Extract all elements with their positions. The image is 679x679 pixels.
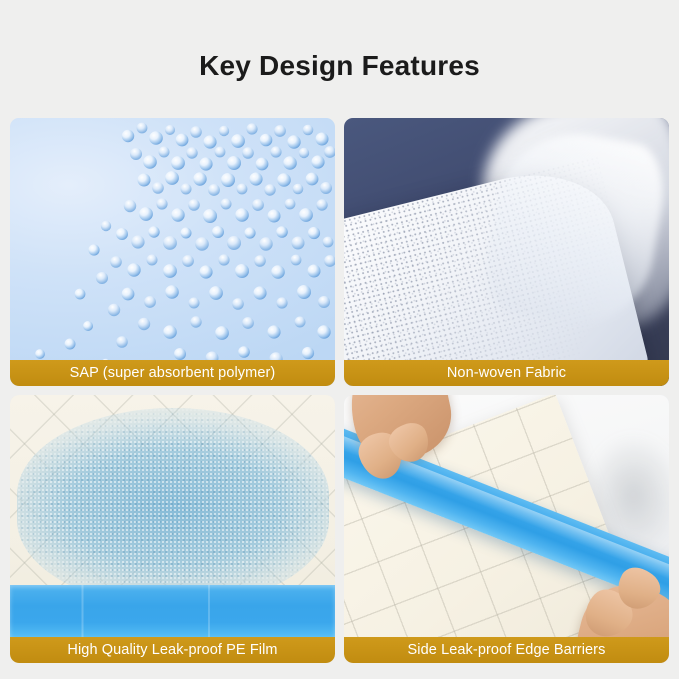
feature-card-edge-barriers[interactable]: Side Leak-proof Edge Barriers — [344, 395, 669, 663]
edge-barriers-photo — [344, 395, 669, 663]
pe-film-photo — [10, 395, 335, 663]
feature-card-pe-film[interactable]: High Quality Leak-proof PE Film — [10, 395, 335, 663]
feature-caption-non-woven: Non-woven Fabric — [344, 360, 669, 386]
feature-caption-sap: SAP (super absorbent polymer) — [10, 360, 335, 386]
pe-core-fiber-texture — [17, 408, 329, 606]
feature-card-non-woven[interactable]: Non-woven Fabric — [344, 118, 669, 386]
features-grid: SAP (super absorbent polymer) Non-woven … — [10, 118, 669, 658]
feature-caption-edge-barriers: Side Leak-proof Edge Barriers — [344, 637, 669, 663]
sap-beads-illustration — [10, 118, 335, 386]
pe-film-seams — [10, 585, 335, 637]
page-title: Key Design Features — [0, 50, 679, 82]
pe-film-strip — [10, 585, 335, 637]
non-woven-photo — [344, 118, 669, 386]
feature-caption-pe-film: High Quality Leak-proof PE Film — [10, 637, 335, 663]
feature-card-sap[interactable]: SAP (super absorbent polymer) — [10, 118, 335, 386]
sap-photo — [10, 118, 335, 386]
